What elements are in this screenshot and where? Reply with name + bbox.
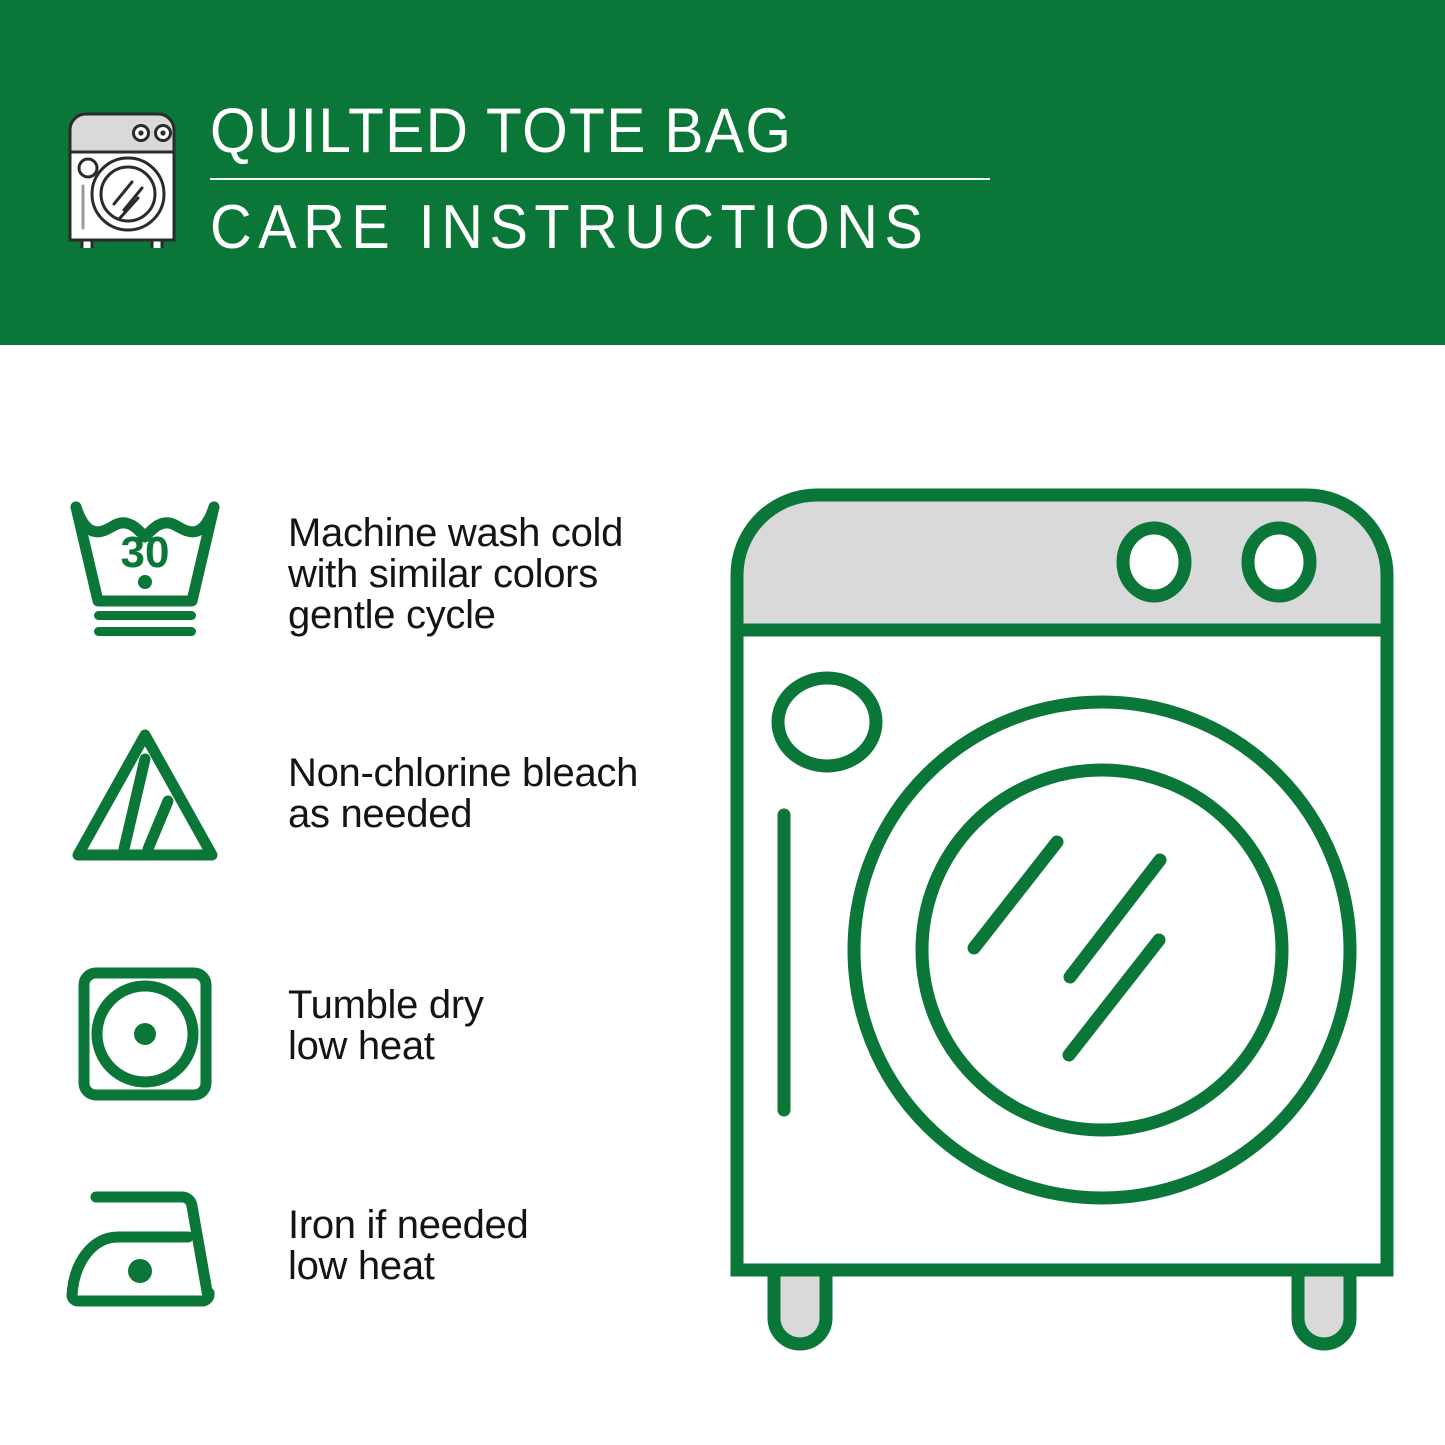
washer-knob-left <box>1123 528 1185 596</box>
care-instruction-label-wash: Machine wash cold with similar colors ge… <box>230 485 700 636</box>
care-instruction-label-bleach: Non-chlorine bleach as needed <box>230 715 700 835</box>
care-instruction-item-tumble-dry: Tumble dry low heat <box>60 945 700 1175</box>
non-chlorine-bleach-triangle-icon <box>60 715 230 889</box>
care-instruction-item-bleach: Non-chlorine bleach as needed <box>60 715 700 945</box>
wash-tub-30-icon: 30 <box>60 485 230 655</box>
page-subtitle: CARE INSTRUCTIONS <box>210 196 991 260</box>
header-title-group: QUILTED TOTE BAG CARE INSTRUCTIONS <box>210 98 1050 260</box>
care-instruction-item-wash: 30 Machine wash cold with similar colors… <box>60 485 700 715</box>
washing-machine-icon <box>62 106 182 248</box>
page-title: QUILTED TOTE BAG <box>210 98 991 164</box>
washer-dispenser-button <box>778 678 876 766</box>
care-instruction-label-iron: Iron if needed low heat <box>230 1175 700 1287</box>
svg-text:30: 30 <box>121 528 170 577</box>
tumble-dry-low-icon <box>60 945 230 1119</box>
washer-leg-right <box>1298 1270 1350 1344</box>
washing-machine-illustration <box>712 470 1412 1360</box>
care-instruction-list: 30 Machine wash cold with similar colors… <box>60 485 700 1335</box>
washer-leg-left <box>774 1270 826 1344</box>
iron-low-heat-icon <box>60 1175 230 1349</box>
header-banner: QUILTED TOTE BAG CARE INSTRUCTIONS <box>0 0 1445 345</box>
title-divider <box>210 178 990 180</box>
care-instruction-item-iron: Iron if needed low heat <box>60 1175 700 1335</box>
header-content: QUILTED TOTE BAG CARE INSTRUCTIONS <box>62 98 1022 268</box>
care-instruction-label-tumble-dry: Tumble dry low heat <box>230 945 700 1067</box>
care-instructions-page: QUILTED TOTE BAG CARE INSTRUCTIONS 30 <box>0 0 1445 1445</box>
washer-knob-right <box>1248 528 1310 596</box>
